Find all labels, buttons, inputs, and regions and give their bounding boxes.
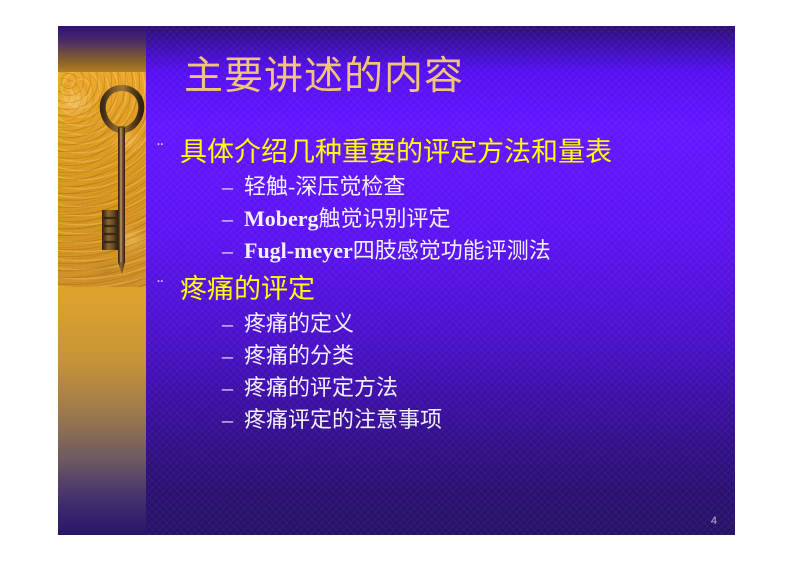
dash-marker-icon: – (222, 340, 244, 372)
dash-marker-icon: – (222, 203, 244, 235)
dash-marker-icon: – (222, 171, 244, 203)
outline-level2-label: Fugl-meyer四肢感觉功能评测法 (244, 235, 551, 267)
outline-level1-label: 具体介绍几种重要的评定方法和量表 (180, 134, 612, 170)
dash-marker-icon: – (222, 404, 244, 436)
outline-level2-label: 轻触-深压觉检查 (244, 171, 405, 203)
cjk-term: 四肢感觉功能评测法 (353, 238, 551, 263)
outline-level1-item: ¨ 具体介绍几种重要的评定方法和量表 (154, 134, 714, 170)
outline-level2-label: 疼痛的定义 (244, 308, 354, 340)
cjk-term: 轻触-深压觉检查 (244, 174, 405, 199)
bullet-marker-icon: ¨ (154, 134, 180, 166)
latin-term: Fugl-meyer (244, 238, 353, 263)
outline-level2-item: – 疼痛的分类 (222, 340, 714, 372)
outline-level2-item: – 疼痛的定义 (222, 308, 714, 340)
outline-level2-label: 疼痛评定的注意事项 (244, 404, 442, 436)
sidebar-decoration-band (58, 26, 146, 535)
dash-marker-icon: – (222, 308, 244, 340)
outline-level2-item: – 疼痛评定的注意事项 (222, 404, 714, 436)
outline-level2-label: 疼痛的评定方法 (244, 372, 398, 404)
latin-term: Moberg (244, 206, 319, 231)
dash-marker-icon: – (222, 235, 244, 267)
cjk-term: 疼痛的评定方法 (244, 375, 398, 400)
antique-key-photo (58, 72, 146, 287)
outline-level2-item: – Moberg触觉识别评定 (222, 203, 714, 235)
outline-level1-label: 疼痛的评定 (180, 271, 315, 307)
outline-level2-label: 疼痛的分类 (244, 340, 354, 372)
bullet-marker-icon: ¨ (154, 271, 180, 303)
cjk-term: 疼痛的分类 (244, 343, 354, 368)
cjk-term: 触觉识别评定 (319, 206, 451, 231)
key-icon (97, 82, 146, 278)
presentation-slide: 主要讲述的内容 ¨ 具体介绍几种重要的评定方法和量表 – 轻触-深压觉检查 – … (58, 26, 735, 535)
outline-level2-item: – 轻触-深压觉检查 (222, 171, 714, 203)
page-number: 4 (711, 516, 717, 527)
outline-level2-label: Moberg触觉识别评定 (244, 203, 451, 235)
cjk-term: 疼痛评定的注意事项 (244, 407, 442, 432)
outline-level2-item: – 疼痛的评定方法 (222, 372, 714, 404)
cjk-term: 疼痛的定义 (244, 311, 354, 336)
page-title: 主要讲述的内容 (184, 56, 704, 99)
slide-body-outline: ¨ 具体介绍几种重要的评定方法和量表 – 轻触-深压觉检查 – Moberg触觉… (154, 134, 714, 436)
outline-level1-item: ¨ 疼痛的评定 (154, 271, 714, 307)
outline-level2-item: – Fugl-meyer四肢感觉功能评测法 (222, 235, 714, 267)
dash-marker-icon: – (222, 372, 244, 404)
